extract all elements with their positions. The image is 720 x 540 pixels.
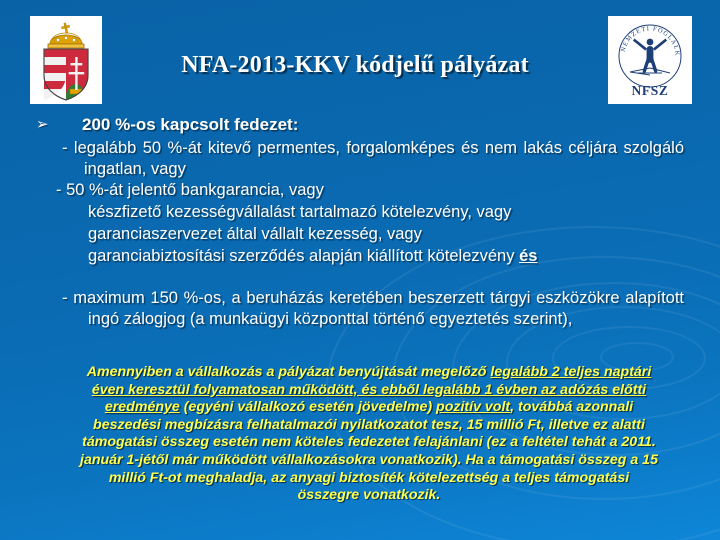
hungarian-coat-of-arms-icon	[30, 16, 102, 104]
bullet-heading-text: 200 %-os kapcsolt fedezet	[82, 115, 293, 134]
slide-title: NFA-2013-KKV kódjelű pályázat	[120, 52, 590, 79]
arrow-bullet-icon: ➢	[36, 114, 82, 136]
emphasis-seg-4-underlined: pozitív volt	[436, 399, 510, 415]
presentation-slide: NFA-2013-KKV kódjelű pályázat NEMZETI FO…	[0, 0, 720, 540]
slide-header: NFA-2013-KKV kódjelű pályázat NEMZETI FO…	[0, 0, 720, 112]
emphasis-seg-3: (egyéni vállalkozó esetén jövedelme)	[180, 399, 436, 415]
emphasis-seg-1: Amennyiben a vállalkozás a pályázat beny…	[87, 364, 491, 380]
emphasis-paragraph: Amennyiben a vállalkozás a pályázat beny…	[78, 364, 660, 505]
svg-text:NFSZ: NFSZ	[632, 83, 669, 98]
bullet-heading-colon: :	[293, 115, 299, 134]
nfsz-logo-icon: NEMZETI FOGLALKOZTATÁSI SZOLGÁLAT NFSZ	[608, 16, 692, 104]
sub-line-1: - legalább 50 %-át kitevő permentes, for…	[62, 138, 684, 180]
bullet-heading: 200 %-os kapcsolt fedezet:	[82, 114, 298, 136]
sub-line-2: - 50 %-át jelentő bankgarancia, vagy	[56, 180, 684, 201]
sub-line-5-text: garanciabiztosítási szerződés alapján ki…	[88, 247, 519, 265]
sub-line-6: - maximum 150 %-os, a beruházás keretébe…	[62, 288, 684, 330]
slide-body: ➢ 200 %-os kapcsolt fedezet: - legalább …	[0, 112, 720, 540]
bullet-item-main: ➢ 200 %-os kapcsolt fedezet:	[36, 114, 690, 136]
sub-line-3: készfizető kezességvállalást tartalmazó …	[88, 202, 684, 223]
sub-line-4: garanciaszervezet által vállalt kezesség…	[88, 224, 684, 245]
sub-line-5-emphasis: és	[519, 247, 537, 265]
sub-line-5: garanciabiztosítási szerződés alapján ki…	[88, 246, 684, 267]
